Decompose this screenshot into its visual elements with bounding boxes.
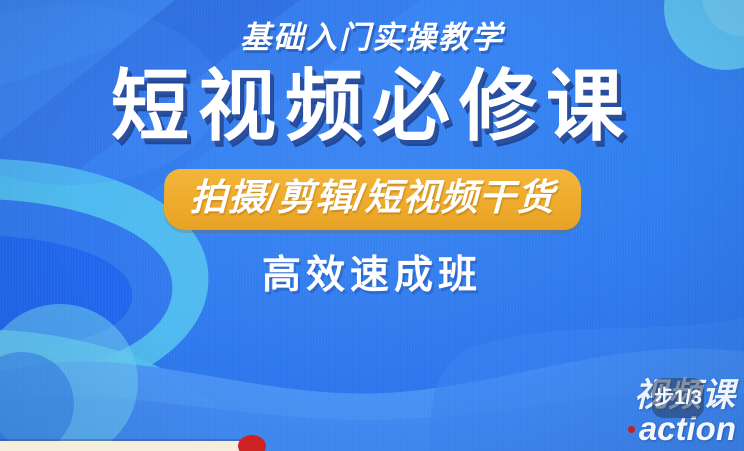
bottom-red-dot-icon bbox=[238, 435, 266, 451]
subtitle-text: 高效速成班 bbox=[262, 256, 482, 295]
step-badge-label: 步1/3 bbox=[654, 388, 702, 408]
feature-ribbon: 拍摄/剪辑/短视频干货 bbox=[163, 169, 581, 230]
eyebrow-text: 基础入门实操教学 bbox=[240, 22, 504, 53]
feature-ribbon-label: 拍摄/剪辑/短视频干货 bbox=[189, 178, 554, 218]
ribbon-wrapper: 拍摄/剪辑/短视频干货 bbox=[164, 169, 581, 230]
poster-content: 基础入门实操教学 短视频必修课 拍摄/剪辑/短视频干货 高效速成班 bbox=[0, 0, 744, 451]
step-badge: 步1/3 bbox=[652, 378, 704, 418]
bottom-cream-strip bbox=[0, 441, 246, 451]
page-title: 短视频必修课 bbox=[111, 67, 633, 145]
poster-canvas: 基础入门实操教学 短视频必修课 拍摄/剪辑/短视频干货 高效速成班 视频课 ac… bbox=[0, 0, 744, 451]
